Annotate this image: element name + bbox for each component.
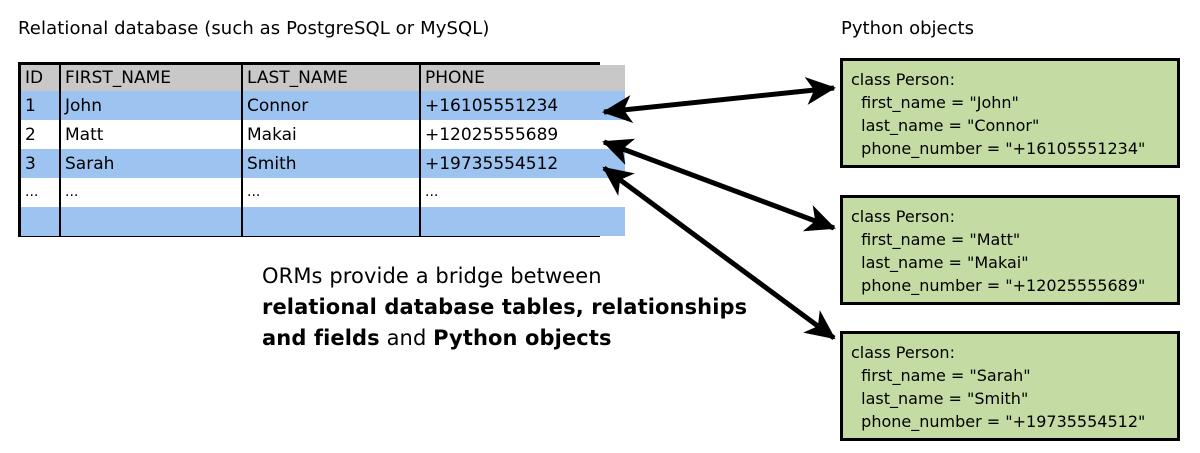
cell-first-name: Sarah (60, 149, 242, 178)
code-line-last: last_name = "Makai" (851, 251, 1177, 274)
cell-phone: +16105551234 (420, 91, 625, 120)
bridge-line-3-fields: and fields (262, 326, 380, 350)
code-line-class: class Person: (851, 341, 1177, 364)
code-line-phone: phone_number = "+12025555689" (851, 274, 1177, 297)
code-line-last: last_name = "Smith" (851, 387, 1177, 410)
cell-phone: ... (420, 178, 625, 207)
bridge-line-1: ORMs provide a bridge between (262, 264, 602, 288)
column-header-id: ID (21, 65, 60, 91)
cell-id: 3 (21, 149, 60, 178)
code-line-last: last_name = "Connor" (851, 114, 1177, 137)
code-line-class: class Person: (851, 68, 1177, 91)
bridge-line-3-and: and (387, 326, 427, 350)
bridge-line-3-objects: Python objects (433, 326, 611, 350)
code-line-first: first_name = "John" (851, 91, 1177, 114)
cell-last-name: ... (242, 178, 420, 207)
code-line-phone: phone_number = "+16105551234" (851, 137, 1177, 160)
relational-database-heading: Relational database (such as PostgreSQL … (18, 18, 490, 39)
cell-phone: +19735554512 (420, 149, 625, 178)
bridge-description: ORMs provide a bridge between relational… (262, 261, 802, 354)
relational-database-table: ID FIRST_NAME LAST_NAME PHONE 1 John Con… (18, 62, 600, 237)
table-row-ellipsis: ... ... ... ... (21, 178, 625, 207)
cell-first-name: ... (60, 178, 242, 207)
column-header-first-name: FIRST_NAME (60, 65, 242, 91)
python-object-box-matt: class Person: first_name = "Matt" last_n… (840, 195, 1180, 305)
cell-last-name: Connor (242, 91, 420, 120)
diagram-canvas: Relational database (such as PostgreSQL … (0, 0, 1200, 453)
cell-id: ... (21, 178, 60, 207)
cell-first-name (60, 207, 242, 236)
python-objects-heading: Python objects (841, 18, 974, 39)
table-row: 3 Sarah Smith +19735554512 (21, 149, 625, 178)
code-line-first: first_name = "Sarah" (851, 364, 1177, 387)
table-row: 2 Matt Makai +12025555689 (21, 120, 625, 149)
code-line-class: class Person: (851, 205, 1177, 228)
table-body: 1 John Connor +16105551234 2 Matt Makai … (21, 91, 625, 236)
cell-id: 1 (21, 91, 60, 120)
cell-id: 2 (21, 120, 60, 149)
person-table: ID FIRST_NAME LAST_NAME PHONE 1 John Con… (21, 65, 625, 236)
cell-last-name: Makai (242, 120, 420, 149)
cell-phone: +12025555689 (420, 120, 625, 149)
bridge-line-2: relational database tables, relationship… (262, 295, 747, 319)
table-header: ID FIRST_NAME LAST_NAME PHONE (21, 65, 625, 91)
cell-last-name: Smith (242, 149, 420, 178)
table-row-blank (21, 207, 625, 236)
python-object-box-sarah: class Person: first_name = "Sarah" last_… (840, 331, 1180, 441)
cell-id (21, 207, 60, 236)
code-line-first: first_name = "Matt" (851, 228, 1177, 251)
cell-first-name: Matt (60, 120, 242, 149)
code-line-phone: phone_number = "+19735554512" (851, 410, 1177, 433)
column-header-last-name: LAST_NAME (242, 65, 420, 91)
table-header-row: ID FIRST_NAME LAST_NAME PHONE (21, 65, 625, 91)
column-header-phone: PHONE (420, 65, 625, 91)
arrow-row2-to-matt (604, 142, 834, 228)
python-object-box-john: class Person: first_name = "John" last_n… (840, 58, 1180, 168)
cell-phone (420, 207, 625, 236)
arrow-row1-to-john (604, 88, 834, 112)
cell-last-name (242, 207, 420, 236)
table-row: 1 John Connor +16105551234 (21, 91, 625, 120)
cell-first-name: John (60, 91, 242, 120)
